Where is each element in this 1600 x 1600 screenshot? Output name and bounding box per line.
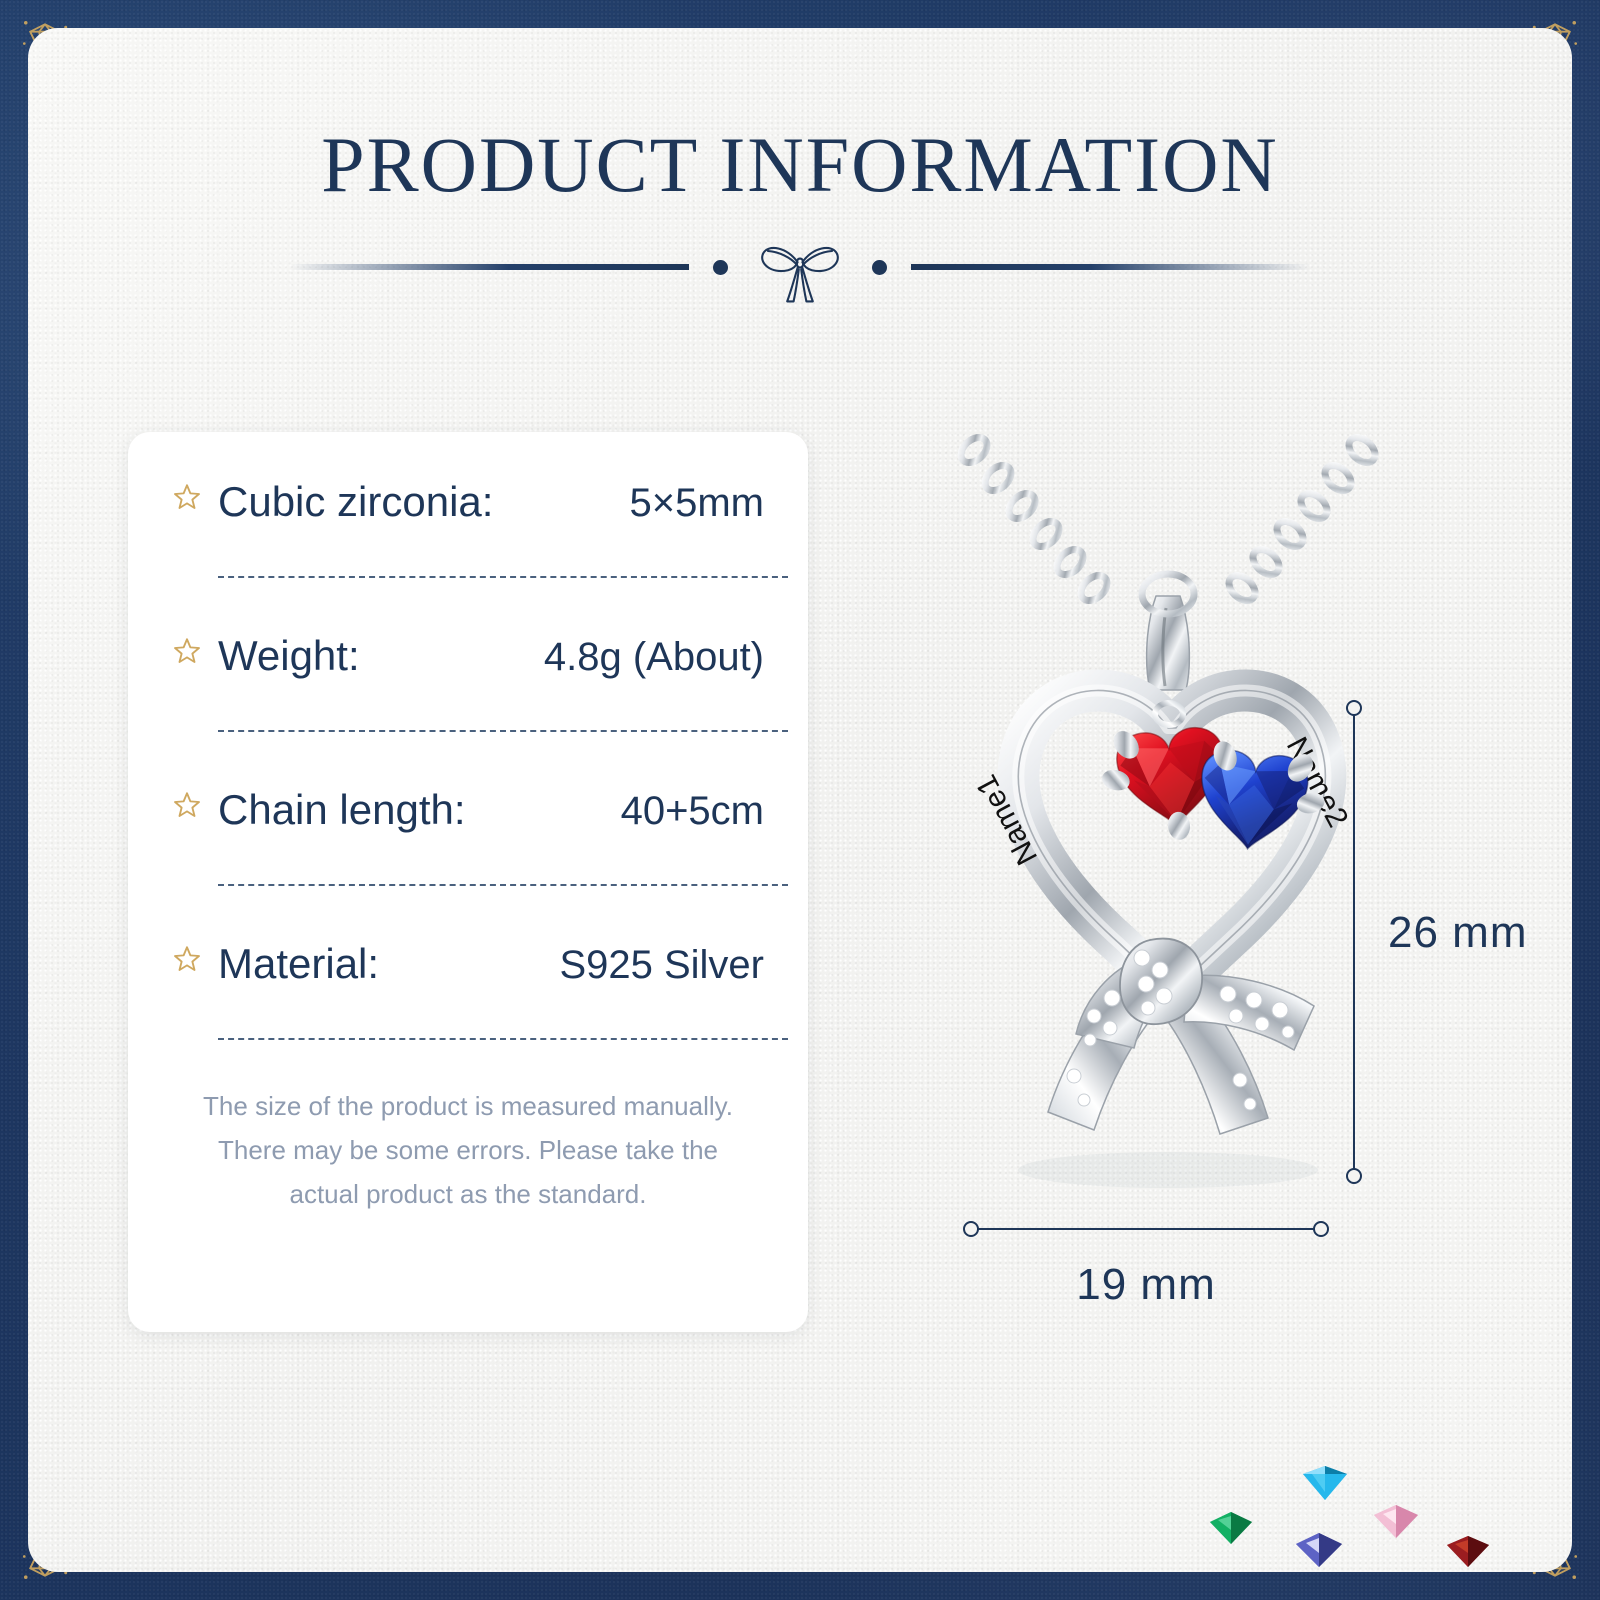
- title-divider: [270, 224, 1330, 310]
- dimension-cap-top: [1346, 700, 1362, 716]
- star-icon: [172, 482, 202, 512]
- dimension-label-width: 19 mm: [971, 1260, 1321, 1310]
- divider-dot-right: [872, 260, 887, 275]
- spec-label: Material:: [218, 940, 379, 988]
- gem-violet-icon: [1290, 1526, 1348, 1572]
- spec-divider: [218, 576, 788, 578]
- gem-garnet-icon: [1442, 1530, 1494, 1572]
- bow-icon: [752, 224, 848, 310]
- spec-row-chain-length: Chain length: 40+5cm: [128, 786, 808, 886]
- spec-value: 4.8g (About): [544, 635, 764, 680]
- spec-card: Cubic zirconia: 5×5mm Weight: 4.8g (Abou…: [128, 432, 808, 1332]
- divider-line-right: [911, 264, 1311, 270]
- gem-cyan-icon: [1296, 1458, 1354, 1506]
- dimension-cap-bottom: [1346, 1168, 1362, 1184]
- product-image-necklace: Name2 Name1: [888, 428, 1448, 1248]
- star-icon: [172, 790, 202, 820]
- spec-row-weight: Weight: 4.8g (About): [128, 632, 808, 732]
- spec-value: 5×5mm: [630, 481, 765, 526]
- dimension-cap-left: [963, 1221, 979, 1237]
- divider-line-left: [289, 264, 689, 270]
- page-title: PRODUCT INFORMATION: [28, 120, 1572, 210]
- spec-row-cubic-zirconia: Cubic zirconia: 5×5mm: [128, 478, 808, 578]
- spec-divider: [218, 1038, 788, 1040]
- dimension-label-height: 26 mm: [1388, 908, 1527, 958]
- product-info-poster: PRODUCT INFORMATION: [0, 0, 1600, 1600]
- star-icon: [172, 636, 202, 666]
- dimension-line-height: [1353, 708, 1355, 1176]
- gem-pink-icon: [1368, 1498, 1424, 1544]
- star-icon: [172, 944, 202, 974]
- note-line-2: There may be some errors. Please take th…: [198, 1128, 738, 1172]
- gem-green-icon: [1204, 1506, 1258, 1548]
- divider-dot-left: [713, 260, 728, 275]
- measurement-note: The size of the product is measured manu…: [128, 1084, 808, 1216]
- spec-label: Chain length:: [218, 786, 466, 834]
- spec-row-material: Material: S925 Silver: [128, 940, 808, 1040]
- content-card: PRODUCT INFORMATION: [28, 28, 1572, 1572]
- note-line-3: actual product as the standard.: [198, 1172, 738, 1216]
- note-line-1: The size of the product is measured manu…: [198, 1084, 738, 1128]
- spec-divider: [218, 730, 788, 732]
- spec-label: Cubic zirconia:: [218, 478, 493, 526]
- spec-label: Weight:: [218, 632, 360, 680]
- dimension-cap-right: [1313, 1221, 1329, 1237]
- spec-value: S925 Silver: [559, 943, 764, 988]
- spec-divider: [218, 884, 788, 886]
- dimension-line-width: [971, 1228, 1321, 1230]
- spec-value: 40+5cm: [621, 789, 764, 834]
